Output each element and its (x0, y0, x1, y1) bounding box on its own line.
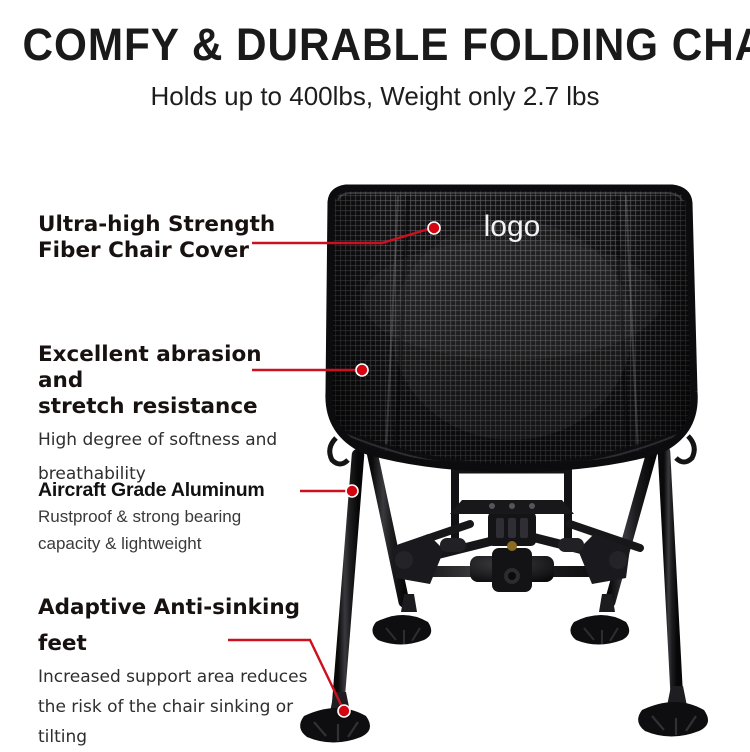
infographic-canvas: logo COMFY & DURABLE FOLDING CHAIR Holds… (0, 0, 750, 750)
callout-fiber-chair-cover: Ultra-high Strength Fiber Chair Cover (38, 212, 300, 264)
callout-aluminum-body-line2: capacity & lightweight (38, 532, 318, 556)
callout-feet-heading-line2: feet (38, 626, 338, 662)
callout-anti-sinking-feet: Adaptive Anti-sinking feet Increased sup… (38, 590, 338, 752)
callout-abrasion-heading-line1: Excellent abrasion and (38, 342, 308, 394)
page-subtitle: Holds up to 400lbs, Weight only 2.7 lbs (0, 80, 750, 112)
chair-anti-sinking-feet (300, 594, 708, 743)
page-title: COMFY & DURABLE FOLDING CHAIR (23, 20, 728, 70)
callout-feet-body-line1: Increased support area reduces (38, 662, 338, 692)
callout-abrasion-resistance: Excellent abrasion and stretch resistanc… (38, 342, 308, 488)
callout-feet-body-line2: the risk of the chair sinking or tilting (38, 692, 338, 752)
callout-abrasion-heading-line2: stretch resistance (38, 394, 308, 420)
callout-cover-heading-line1: Ultra-high Strength (38, 212, 300, 238)
product-logo-text: logo (484, 210, 541, 243)
callout-aircraft-grade-aluminum: Aircraft Grade Aluminum Rustproof & stro… (38, 478, 318, 556)
chair-frame-hub (392, 500, 630, 592)
callout-abrasion-body-line1: High degree of softness and (38, 426, 308, 454)
callout-cover-heading-line2: Fiber Chair Cover (38, 238, 300, 264)
callout-aluminum-body-line1: Rustproof & strong bearing (38, 505, 318, 529)
foot-front-right (638, 686, 708, 737)
callout-feet-heading-line1: Adaptive Anti-sinking (38, 590, 338, 626)
callout-aluminum-heading-line1: Aircraft Grade Aluminum (38, 478, 318, 502)
